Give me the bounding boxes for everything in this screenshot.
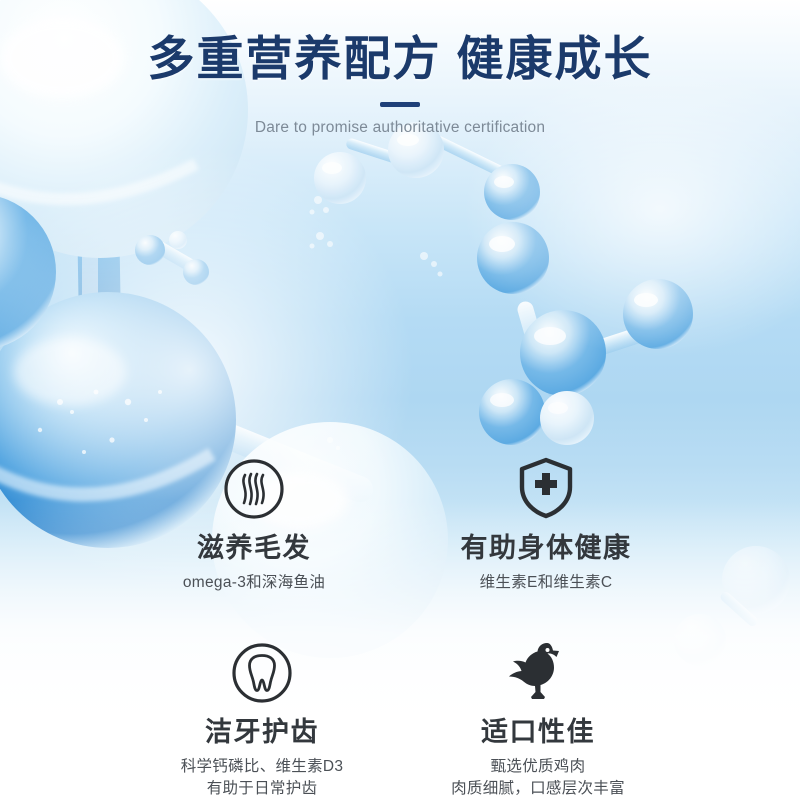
feature-title: 有助身体健康	[416, 534, 676, 564]
feature-icon-wrap	[132, 632, 392, 704]
feature-row-top: 滋养毛发 omega-3和深海鱼油 有助身体健康 维生素E和维生素C	[0, 448, 800, 594]
feature-subtitle: omega-3和深海鱼油	[124, 572, 384, 594]
feature-title: 滋养毛发	[124, 534, 384, 564]
feature-item-hair: 滋养毛发 omega-3和深海鱼油	[124, 448, 384, 594]
feature-item-taste: 适口性佳 甄选优质鸡肉 肉质细腻，口感层次丰富	[408, 632, 668, 800]
feature-subtitle-line: omega-3和深海鱼油	[124, 572, 384, 594]
title-divider	[380, 102, 420, 107]
feature-title: 适口性佳	[408, 718, 668, 748]
feature-subtitle-line: 科学钙磷比、维生素D3	[132, 756, 392, 778]
chicken-silhouette-icon	[506, 638, 570, 704]
promo-banner: 多重营养配方 健康成长 Dare to promise authoritativ…	[0, 0, 800, 800]
feature-subtitle-line: 肉质细腻，口感层次丰富	[408, 778, 668, 800]
feature-subtitle-line: 有助于日常护齿	[132, 778, 392, 800]
feature-item-teeth: 洁牙护齿 科学钙磷比、维生素D3 有助于日常护齿	[132, 632, 392, 800]
feature-subtitle-line: 维生素E和维生素C	[416, 572, 676, 594]
page-title: 多重营养配方 健康成长	[0, 34, 800, 84]
header: 多重营养配方 健康成长 Dare to promise authoritativ…	[0, 34, 800, 137]
hair-waves-circle-icon	[223, 458, 285, 520]
feature-subtitle: 甄选优质鸡肉 肉质细腻，口感层次丰富	[408, 756, 668, 800]
feature-icon-wrap	[124, 448, 384, 520]
feature-row-bottom: 洁牙护齿 科学钙磷比、维生素D3 有助于日常护齿 适口性佳 甄选优质鸡肉	[0, 632, 800, 800]
tooth-circle-icon	[231, 642, 293, 704]
feature-subtitle: 维生素E和维生素C	[416, 572, 676, 594]
feature-icon-wrap	[408, 632, 668, 704]
feature-title: 洁牙护齿	[132, 718, 392, 748]
shield-cross-icon	[517, 456, 575, 520]
feature-subtitle-line: 甄选优质鸡肉	[408, 756, 668, 778]
feature-icon-wrap	[416, 448, 676, 520]
feature-item-health: 有助身体健康 维生素E和维生素C	[416, 448, 676, 594]
feature-subtitle: 科学钙磷比、维生素D3 有助于日常护齿	[132, 756, 392, 800]
page-subtitle: Dare to promise authoritative certificat…	[0, 119, 800, 137]
feature-grid: 滋养毛发 omega-3和深海鱼油 有助身体健康 维生素E和维生素C	[0, 448, 800, 800]
